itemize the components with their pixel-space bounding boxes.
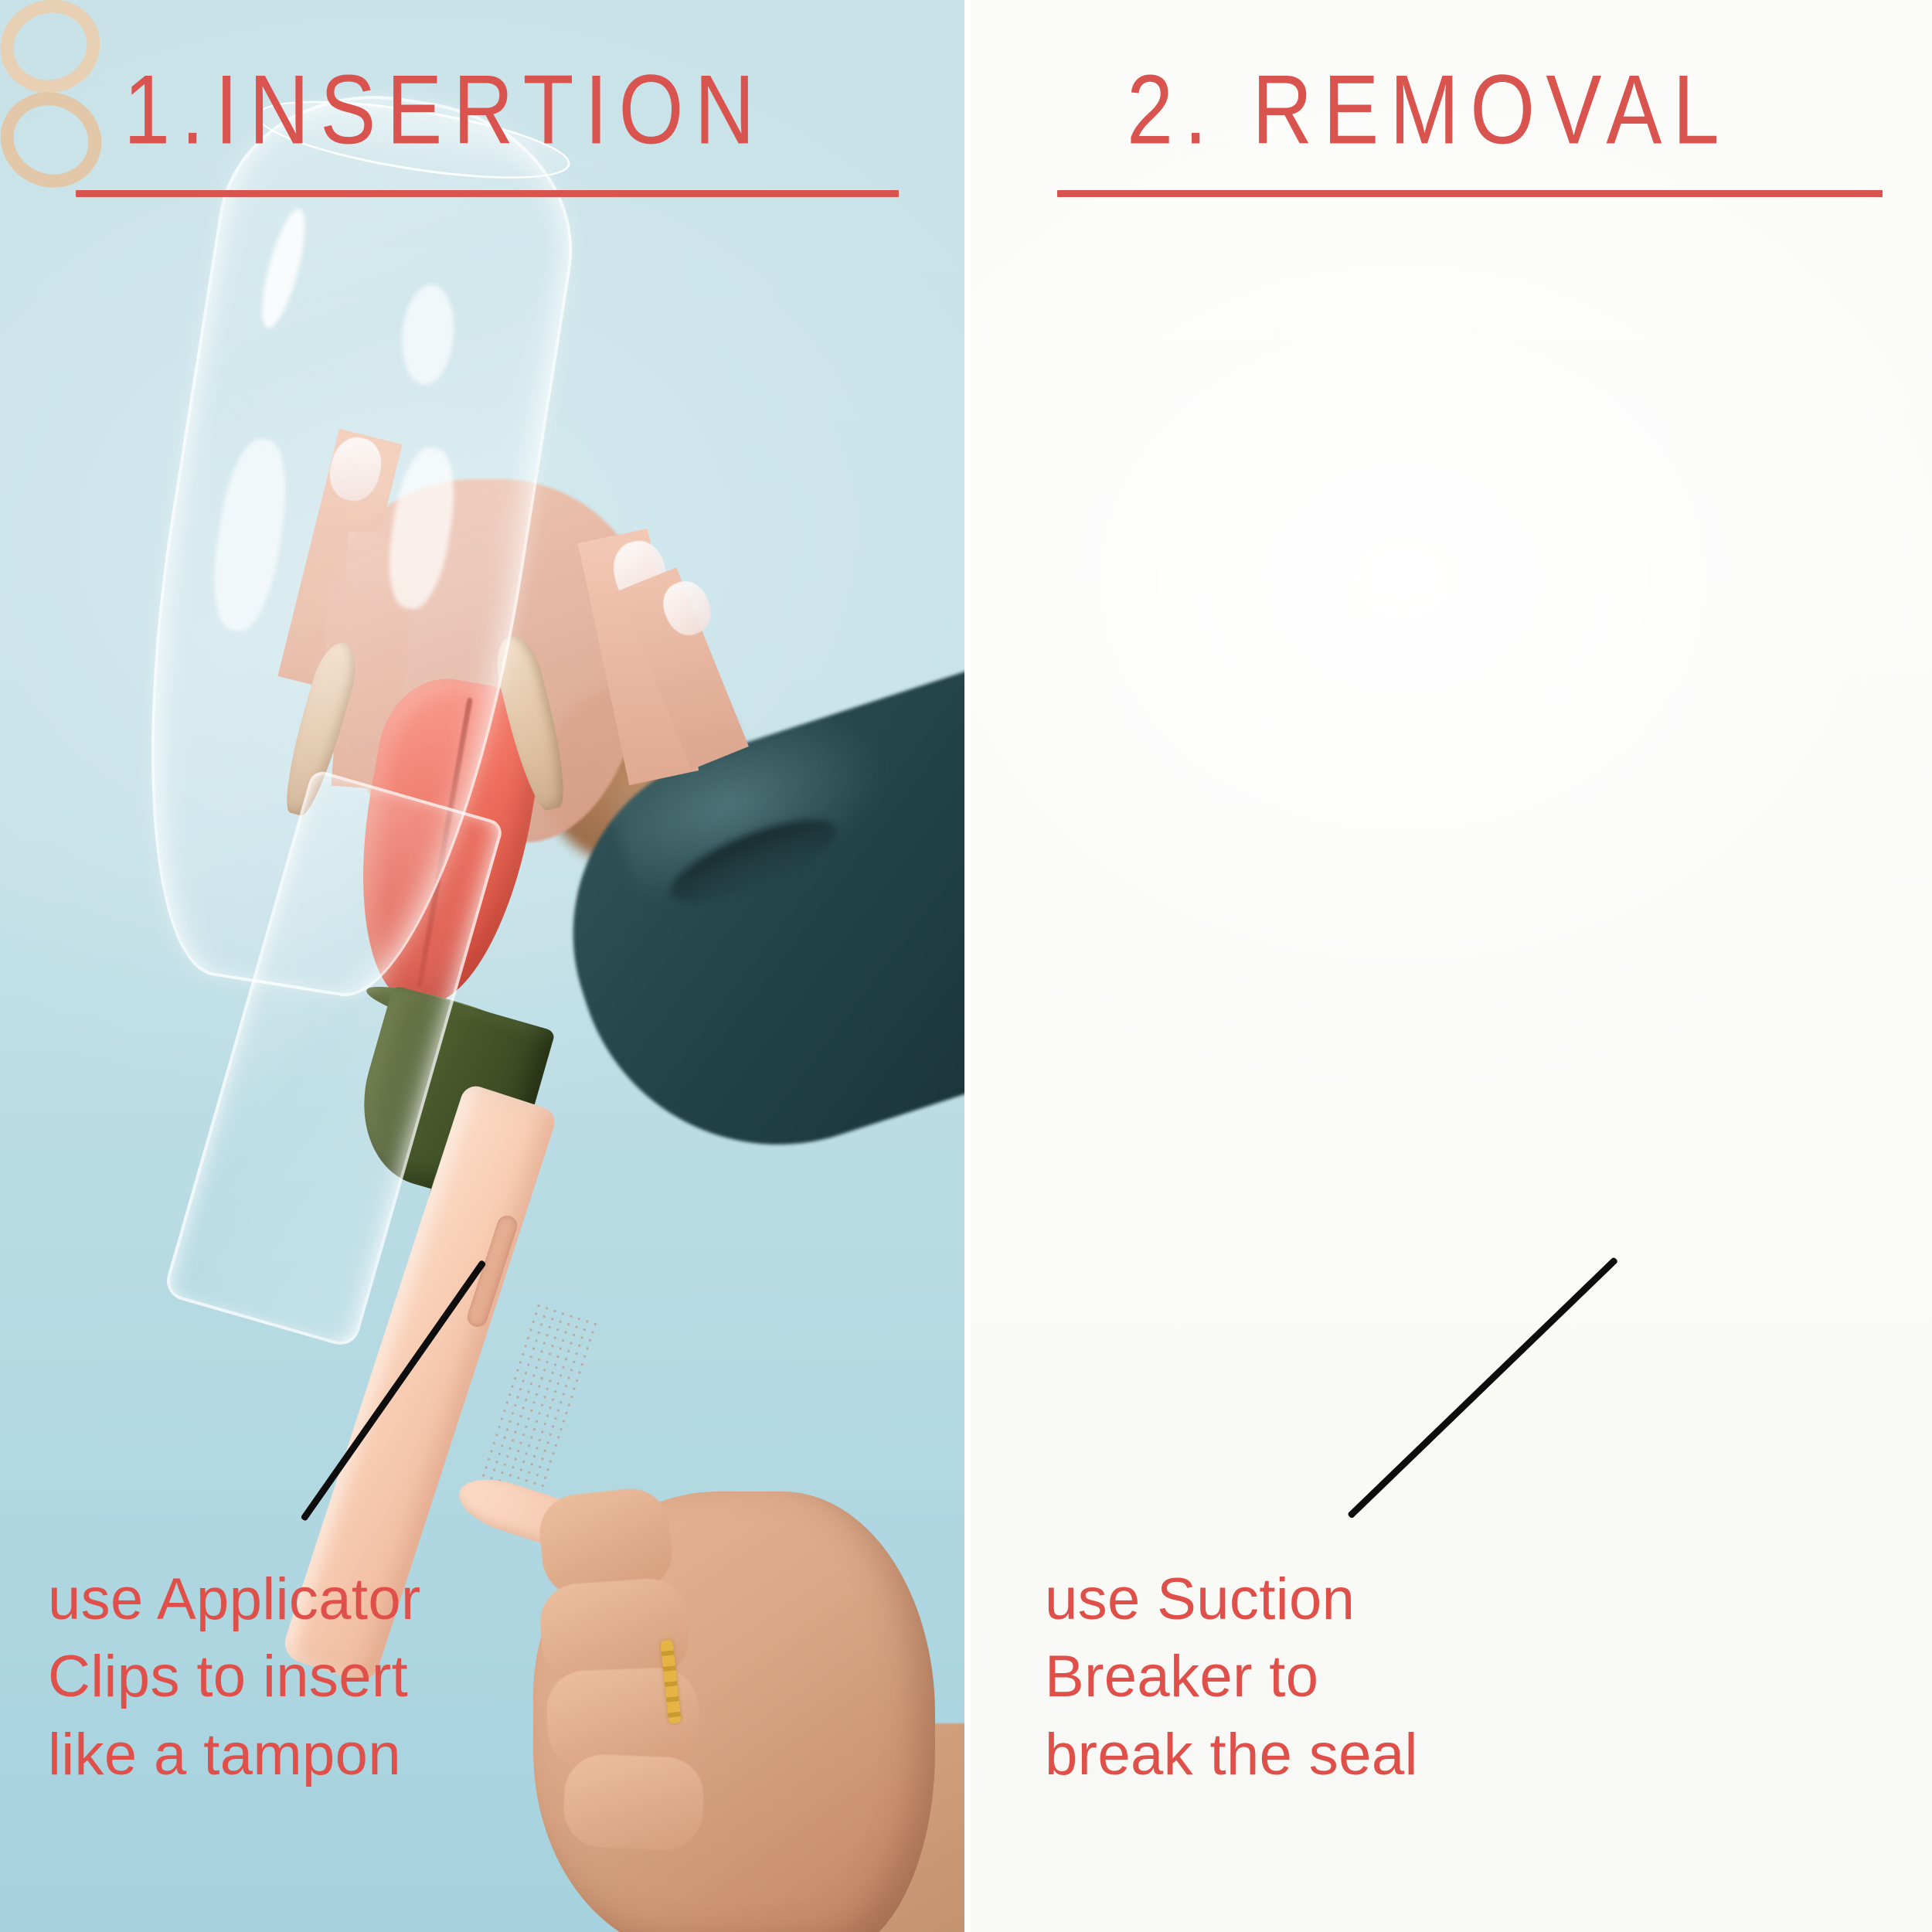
- panel-heading-insertion: 1.INSERTION: [124, 60, 766, 158]
- caption-insertion: use Applicator Clips to insert like a ta…: [48, 1561, 589, 1794]
- caption-removal: use Suction Breaker to break the seal: [1045, 1561, 1586, 1794]
- infographic-canvas: 1.INSERTION use Applicator Clips to inse…: [0, 0, 1932, 1932]
- applicator-clip-left-hook: [0, 0, 112, 106]
- heading-rule: [76, 190, 899, 197]
- panel-insertion: 1.INSERTION use Applicator Clips to inse…: [0, 0, 964, 1932]
- panel-divider: [964, 0, 971, 1932]
- glass-body: [101, 73, 593, 1014]
- pelvic-model-glass: [101, 73, 593, 1014]
- panel-heading-removal: 2. REMOVAL: [1127, 60, 1730, 158]
- applicator-clip-right-hook: [0, 77, 116, 203]
- heading-rule: [1057, 190, 1883, 197]
